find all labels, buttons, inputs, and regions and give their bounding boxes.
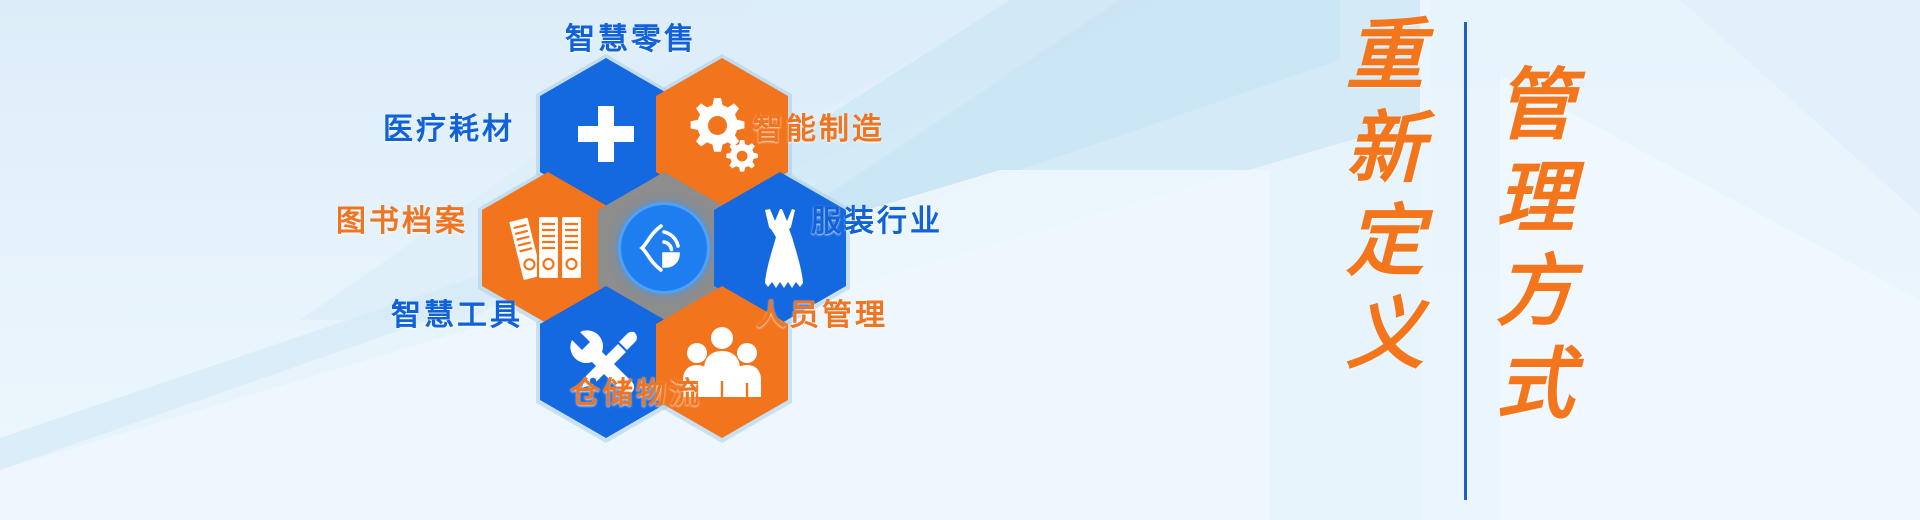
label-smart-tools: 智慧工具 <box>391 290 523 334</box>
promo-banner: 智慧零售 医疗耗材 智能制造 图书档案 服装行业 智慧工具 人员管理 仓储物流 … <box>0 0 1920 520</box>
binders-icon <box>509 211 587 285</box>
medical-cross-icon <box>572 100 640 168</box>
label-apparel-industry: 服装行业 <box>811 196 943 240</box>
calligraphy-char: 重 <box>1346 12 1424 101</box>
gears-icon <box>684 96 760 172</box>
calligraphy-column-right: 管 理 方 式 <box>1480 0 1590 520</box>
label-warehouse-logistics: 仓储物流 <box>570 368 702 412</box>
label-smart-manufacturing: 智能制造 <box>753 104 885 148</box>
calligraphy-char: 新 <box>1346 105 1424 194</box>
calligraphy-block: 重 新 定 义 管 理 方 式 <box>1330 0 1630 520</box>
label-books-archive: 图书档案 <box>336 196 468 240</box>
calligraphy-char: 定 <box>1346 198 1424 287</box>
label-smart-retail: 智慧零售 <box>565 14 697 58</box>
calligraphy-char: 式 <box>1496 341 1574 430</box>
calligraphy-char: 方 <box>1496 248 1574 337</box>
dress-icon <box>743 205 817 291</box>
label-medical-consumables: 医疗耗材 <box>383 104 515 148</box>
background-shapes <box>0 0 1920 520</box>
label-personnel-management: 人员管理 <box>756 290 888 334</box>
calligraphy-char: 理 <box>1496 155 1574 244</box>
calligraphy-char: 义 <box>1346 291 1424 380</box>
calligraphy-divider <box>1464 22 1467 500</box>
calligraphy-char: 管 <box>1496 62 1574 151</box>
brand-logo-icon <box>621 205 707 291</box>
calligraphy-column-left: 重 新 定 义 <box>1330 0 1440 520</box>
